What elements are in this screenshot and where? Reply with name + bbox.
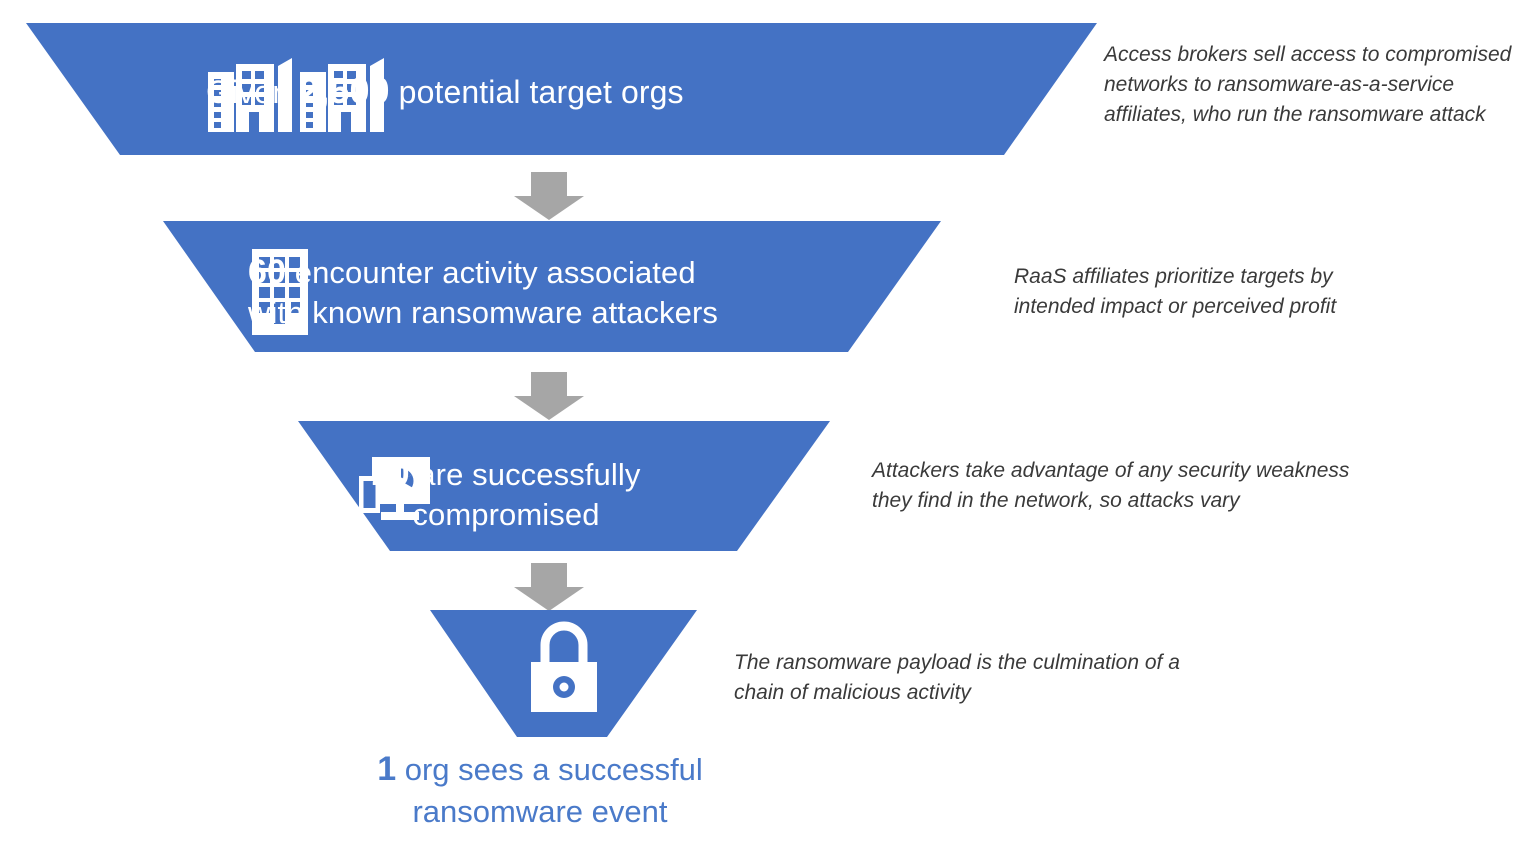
funnel-diagram: Given 2,500 potential target orgs 60 enc… xyxy=(0,0,1536,861)
tier-2-line-1: 60 encounter activity associated xyxy=(248,252,718,293)
outcome-line-1: 1 org sees a successful xyxy=(330,748,750,792)
down-arrow-icon xyxy=(514,372,584,420)
tier-3-line-1: 20 are successfully xyxy=(356,454,656,495)
outcome-line-2: ransomware event xyxy=(330,792,750,832)
tier-2-number: 60 xyxy=(248,253,286,291)
funnel-tier-2-label: 60 encounter activity associated with kn… xyxy=(248,252,718,331)
outcome-number: 1 xyxy=(377,750,396,788)
tier-3-text-after: are successfully xyxy=(410,457,641,492)
funnel-tier-1-label: Given 2,500 potential target orgs xyxy=(206,69,684,113)
funnel-outcome-caption: 1 org sees a successful ransomware event xyxy=(330,748,750,831)
funnel-tier-1-content: Given 2,500 potential target orgs xyxy=(206,48,966,134)
funnel-tier-3-label: 20 are successfully compromised xyxy=(356,454,656,533)
tier-1-number: 2,500 xyxy=(299,70,390,111)
down-arrow-icon xyxy=(514,563,584,611)
tier-2-text-after: encounter activity associated xyxy=(286,255,696,290)
annotation-tier-3: Attackers take advantage of any security… xyxy=(872,456,1392,516)
funnel-tier-2-content: 60 encounter activity associated with kn… xyxy=(248,238,888,346)
tier-2-line-2: with known ransomware attackers xyxy=(248,294,718,332)
outcome-text-1: org sees a successful xyxy=(396,752,703,787)
tier-3-number: 20 xyxy=(372,455,410,493)
funnel-tier-4-content xyxy=(430,628,698,720)
annotation-tier-4: The ransomware payload is the culminatio… xyxy=(734,648,1214,708)
tier-1-text-before: Given xyxy=(206,74,299,110)
annotation-tier-2: RaaS affiliates prioritize targets by in… xyxy=(1014,262,1414,322)
down-arrow-icon xyxy=(514,172,584,220)
tier-1-text-after: potential target orgs xyxy=(390,74,684,110)
tier-3-line-2: compromised xyxy=(356,496,656,534)
funnel-tier-3-content: 20 are successfully compromised xyxy=(356,440,776,548)
annotation-tier-1: Access brokers sell access to compromise… xyxy=(1104,40,1534,129)
